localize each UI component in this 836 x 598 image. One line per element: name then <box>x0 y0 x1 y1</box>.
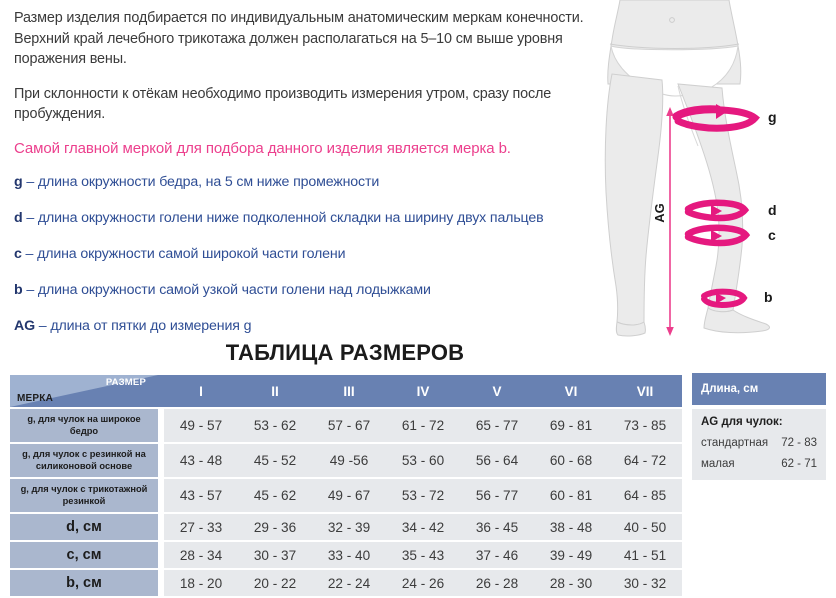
table-cell: 61 - 72 <box>386 409 460 442</box>
table-row: b, см 18 - 20 20 - 22 22 - 24 24 - 26 26… <box>10 570 682 596</box>
table-cell: 53 - 62 <box>238 409 312 442</box>
definition-b: b – длина окружности самой узкой части г… <box>14 281 614 300</box>
row-label: g, для чулок с трикотажной резинкой <box>10 479 158 512</box>
table-corner-cell: РАЗМЕР МЕРКА <box>10 375 158 407</box>
corner-measure-label: МЕРКА <box>17 393 53 404</box>
side-row-value: 62 - 71 <box>781 458 817 470</box>
table-cell: 40 - 50 <box>608 514 682 540</box>
table-cell: 41 - 51 <box>608 542 682 568</box>
table-cell: 43 - 48 <box>164 444 238 477</box>
table-cell: 49 -56 <box>312 444 386 477</box>
definition-text-c: длина окружности самой широкой части гол… <box>37 246 345 262</box>
table-cell: 27 - 33 <box>164 514 238 540</box>
length-side-table: Длина, см AG для чулок: стандартная 72 -… <box>692 373 826 480</box>
definition-key-d: d <box>14 210 23 226</box>
side-table-title: AG для чулок: <box>701 416 817 428</box>
size-table: РАЗМЕР МЕРКА I II III IV V VI VII g, для… <box>10 373 682 598</box>
definition-dash-g: – <box>23 174 38 190</box>
table-cell: 22 - 24 <box>312 570 386 596</box>
highlight-note: Самой главной меркой для подбора данного… <box>14 139 614 159</box>
leg-measurement-illustration: AG g d c b <box>600 0 836 342</box>
definition-dash-c: – <box>22 246 37 262</box>
table-cell: 64 - 72 <box>608 444 682 477</box>
table-cell: 35 - 43 <box>386 542 460 568</box>
table-header-row: РАЗМЕР МЕРКА I II III IV V VI VII <box>10 375 682 407</box>
table-row: c, см 28 - 34 30 - 37 33 - 40 35 - 43 37… <box>10 542 682 568</box>
table-cell: 33 - 40 <box>312 542 386 568</box>
table-cell: 57 - 67 <box>312 409 386 442</box>
row-label: c, см <box>10 542 158 568</box>
side-table-body: AG для чулок: стандартная 72 - 83 малая … <box>692 409 826 480</box>
size-column-header-5: V <box>460 375 534 407</box>
table-cell: 38 - 48 <box>534 514 608 540</box>
marker-label-g: g <box>768 109 777 125</box>
table-cell: 65 - 77 <box>460 409 534 442</box>
marker-label-c: c <box>768 227 776 243</box>
table-cell: 28 - 30 <box>534 570 608 596</box>
definition-ag: AG – длина от пятки до измерения g <box>14 317 614 336</box>
side-body-row: AG для чулок: стандартная 72 - 83 малая … <box>692 409 826 480</box>
table-cell: 43 - 57 <box>164 479 238 512</box>
definition-text-d: длина окружности голени ниже подколенной… <box>38 210 544 226</box>
table-row: g, для чулок с трикотажной резинкой 43 -… <box>10 479 682 512</box>
table-cell: 49 - 57 <box>164 409 238 442</box>
table-cell: 49 - 67 <box>312 479 386 512</box>
definition-key-c: c <box>14 246 22 262</box>
definition-d: d – длина окружности голени ниже подколе… <box>14 209 614 228</box>
definition-c: c – длина окружности самой широкой части… <box>14 245 614 264</box>
description-column: Размер изделия подбирается по индивидуал… <box>14 8 614 353</box>
size-column-header-6: VI <box>534 375 608 407</box>
table-cell: 56 - 64 <box>460 444 534 477</box>
definition-dash-d: – <box>23 210 38 226</box>
definition-dash-b: – <box>23 282 38 298</box>
table-cell: 26 - 28 <box>460 570 534 596</box>
row-label: g, для чулок с резинкой на силиконовой о… <box>10 444 158 477</box>
row-label: g, для чулок на широкое бедро <box>10 409 158 442</box>
side-table-row: стандартная 72 - 83 <box>701 437 817 449</box>
table-cell: 73 - 85 <box>608 409 682 442</box>
intro-paragraph-1: Размер изделия подбирается по индивидуал… <box>14 8 614 70</box>
table-cell: 60 - 81 <box>534 479 608 512</box>
definition-dash-ag: – <box>35 318 50 334</box>
table-cell: 69 - 81 <box>534 409 608 442</box>
size-column-header-3: III <box>312 375 386 407</box>
table-row: g, для чулок с резинкой на силиконовой о… <box>10 444 682 477</box>
table-cell: 36 - 45 <box>460 514 534 540</box>
size-table-area: РАЗМЕР МЕРКА I II III IV V VI VII g, для… <box>10 373 826 565</box>
table-cell: 37 - 46 <box>460 542 534 568</box>
definition-text-b: длина окружности самой узкой части голен… <box>38 282 431 298</box>
table-cell: 45 - 52 <box>238 444 312 477</box>
table-cell: 30 - 32 <box>608 570 682 596</box>
size-column-header-2: II <box>238 375 312 407</box>
table-cell: 56 - 77 <box>460 479 534 512</box>
marker-label-b: b <box>764 289 773 305</box>
ag-label: AG <box>652 203 667 223</box>
definition-g: g – длина окружности бедра, на 5 см ниже… <box>14 173 614 192</box>
table-cell: 34 - 42 <box>386 514 460 540</box>
definition-text-g: длина окружности бедра, на 5 см ниже про… <box>38 174 379 190</box>
marker-label-d: d <box>768 202 777 218</box>
side-table-row: малая 62 - 71 <box>701 458 817 470</box>
side-table-header: Длина, см <box>692 373 826 405</box>
table-cell: 39 - 49 <box>534 542 608 568</box>
table-cell: 53 - 60 <box>386 444 460 477</box>
table-cell: 64 - 85 <box>608 479 682 512</box>
corner-size-label: РАЗМЕР <box>106 377 146 388</box>
female-body-silhouette <box>605 0 769 336</box>
size-column-header-4: IV <box>386 375 460 407</box>
definition-key-b: b <box>14 282 23 298</box>
definition-key-ag: AG <box>14 318 35 334</box>
row-label: b, см <box>10 570 158 596</box>
table-title: ТАБЛИЦА РАЗМЕРОВ <box>0 340 690 366</box>
table-cell: 28 - 34 <box>164 542 238 568</box>
size-column-header-1: I <box>164 375 238 407</box>
table-row: g, для чулок на широкое бедро 49 - 57 53… <box>10 409 682 442</box>
table-cell: 60 - 68 <box>534 444 608 477</box>
table-cell: 53 - 72 <box>386 479 460 512</box>
row-label: d, см <box>10 514 158 540</box>
table-cell: 29 - 36 <box>238 514 312 540</box>
table-cell: 32 - 39 <box>312 514 386 540</box>
table-cell: 20 - 22 <box>238 570 312 596</box>
table-cell: 45 - 62 <box>238 479 312 512</box>
table-row: d, см 27 - 33 29 - 36 32 - 39 34 - 42 36… <box>10 514 682 540</box>
definition-key-g: g <box>14 174 23 190</box>
side-row-name: малая <box>701 458 735 470</box>
side-row-name: стандартная <box>701 437 768 449</box>
side-row-value: 72 - 83 <box>781 437 817 449</box>
size-column-header-7: VII <box>608 375 682 407</box>
side-header-row: Длина, см <box>692 373 826 405</box>
definition-text-ag: длина от пятки до измерения g <box>50 318 251 334</box>
table-cell: 30 - 37 <box>238 542 312 568</box>
table-cell: 18 - 20 <box>164 570 238 596</box>
table-cell: 24 - 26 <box>386 570 460 596</box>
intro-paragraph-2: При склонности к отёкам необходимо произ… <box>14 84 614 125</box>
